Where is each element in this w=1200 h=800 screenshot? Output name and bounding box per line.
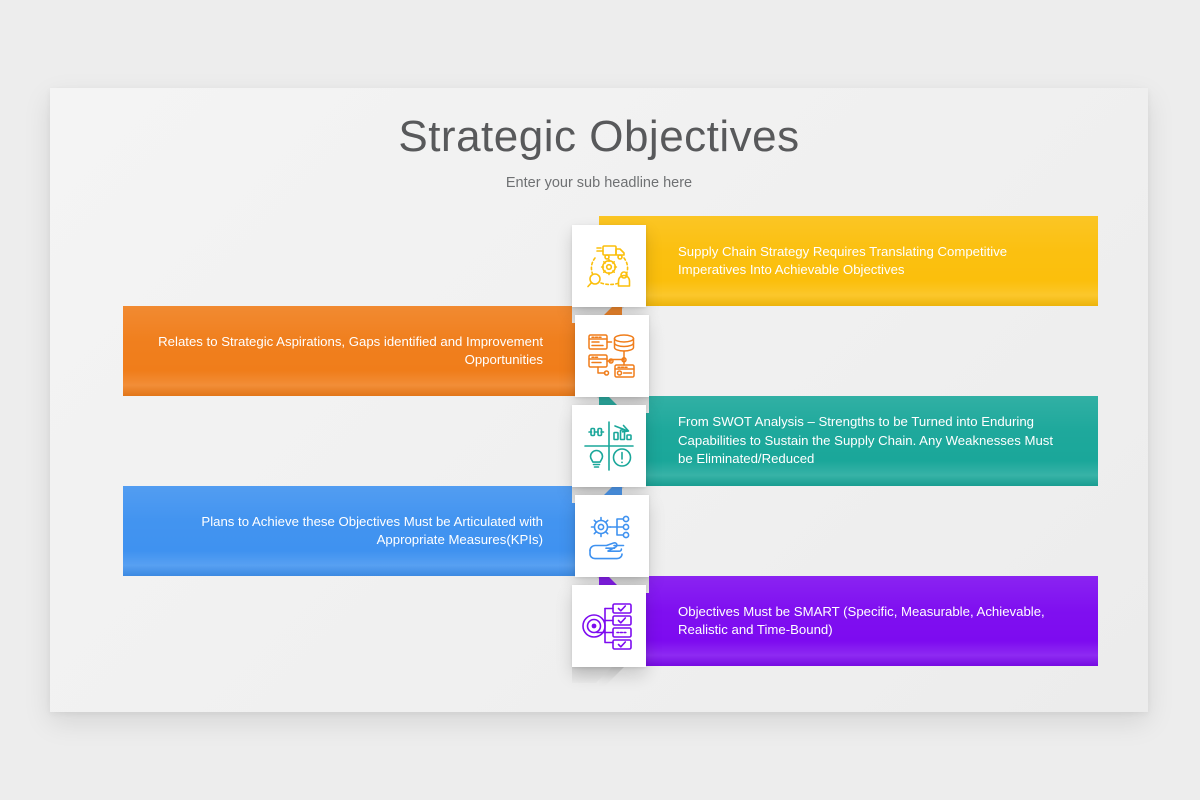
objective-text: Supply Chain Strategy Requires Translati… xyxy=(678,216,1068,306)
objective-row-swot-analysis[interactable]: From SWOT Analysis – Strengths to be Tur… xyxy=(522,396,1098,486)
objective-row-smart-objectives[interactable]: Objectives Must be SMART (Specific, Meas… xyxy=(522,576,1098,666)
objective-icon-card[interactable] xyxy=(572,585,646,667)
hand-gear-network-icon xyxy=(584,510,640,562)
objective-row-plans-kpis[interactable]: Plans to Achieve these Objectives Must b… xyxy=(123,486,699,576)
objective-row-strategic-aspirations[interactable]: Relates to Strategic Aspirations, Gaps i… xyxy=(123,306,699,396)
objective-text: Relates to Strategic Aspirations, Gaps i… xyxy=(153,306,543,396)
swot-grid-icon xyxy=(582,419,636,473)
band-fold xyxy=(572,667,612,683)
objective-icon-card[interactable] xyxy=(572,225,646,307)
target-checklist-icon xyxy=(581,600,637,652)
page-subtitle: Enter your sub headline here xyxy=(50,175,1148,191)
slide-panel: Strategic Objectives Enter your sub head… xyxy=(50,88,1148,712)
objective-text: From SWOT Analysis – Strengths to be Tur… xyxy=(678,396,1068,486)
objective-icon-card[interactable] xyxy=(572,405,646,487)
objective-text: Plans to Achieve these Objectives Must b… xyxy=(153,486,543,576)
objective-icon-card[interactable] xyxy=(575,495,649,577)
slide-stage: Strategic Objectives Enter your sub head… xyxy=(0,0,1200,800)
database-network-icon xyxy=(585,329,639,383)
objective-text: Objectives Must be SMART (Specific, Meas… xyxy=(678,576,1068,666)
objective-row-supply-chain-strategy[interactable]: Supply Chain Strategy Requires Translati… xyxy=(522,216,1098,306)
supply-chain-icon xyxy=(583,238,635,294)
page-title: Strategic Objectives xyxy=(50,112,1148,162)
objective-icon-card[interactable] xyxy=(575,315,649,397)
